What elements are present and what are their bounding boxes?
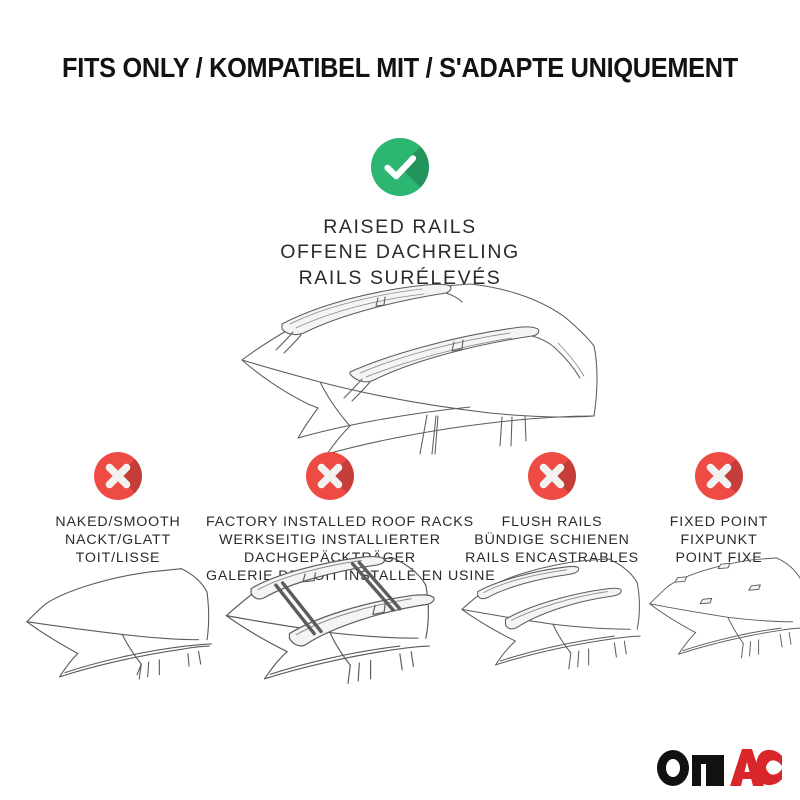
logo-letter-m xyxy=(692,755,724,786)
logo-letter-c xyxy=(756,750,782,785)
incompatible-label-en: NAKED/SMOOTH xyxy=(12,514,224,532)
incompatible-item-fixed-point: FIXED POINT FIXPUNKT POINT FIXE xyxy=(638,452,800,568)
incompatible-item-factory-roof-racks: FACTORY INSTALLED ROOF RACKS WERKSEITIG … xyxy=(206,452,454,586)
incompatible-label-en: FACTORY INSTALLED ROOF RACKS xyxy=(206,514,454,532)
car-roof-fixed-point-drawing xyxy=(638,548,800,661)
x-circle-icon xyxy=(695,452,743,500)
incompatible-item-flush-rails: FLUSH RAILS BÜNDIGE SCHIENEN RAILS ENCAS… xyxy=(448,452,656,568)
car-roof-factory-roof-rack-drawing xyxy=(206,548,454,689)
header: FITS ONLY / KOMPATIBEL MIT / S'ADAPTE UN… xyxy=(0,52,800,84)
incompatible-label-en: FLUSH RAILS xyxy=(448,514,656,532)
page-title: FITS ONLY / KOMPATIBEL MIT / S'ADAPTE UN… xyxy=(32,52,768,84)
check-circle-icon xyxy=(371,138,429,196)
logo-letter-o xyxy=(657,750,689,786)
car-roof-flush-rails-drawing xyxy=(448,548,656,672)
incompatible-label-de: NACKT/GLATT xyxy=(12,532,224,550)
compatible-label-de: OFFENE DACHRELING xyxy=(0,240,800,265)
x-circle-icon xyxy=(94,452,142,500)
incompatible-label-en: FIXED POINT xyxy=(638,514,800,532)
car-roof-naked-smooth-drawing xyxy=(12,556,224,681)
car-roof-with-raised-rails-drawing xyxy=(170,278,640,456)
omac-logo xyxy=(656,747,782,787)
x-circle-icon xyxy=(528,452,576,500)
compatible-label-en: RAISED RAILS xyxy=(0,215,800,240)
compatible-section: RAISED RAILS OFFENE DACHRELING RAILS SUR… xyxy=(0,138,800,291)
incompatible-section: NAKED/SMOOTH NACKT/GLATT TOIT/LISSE xyxy=(0,452,800,692)
incompatible-item-naked-smooth: NAKED/SMOOTH NACKT/GLATT TOIT/LISSE xyxy=(12,452,224,568)
x-circle-icon xyxy=(306,452,354,500)
